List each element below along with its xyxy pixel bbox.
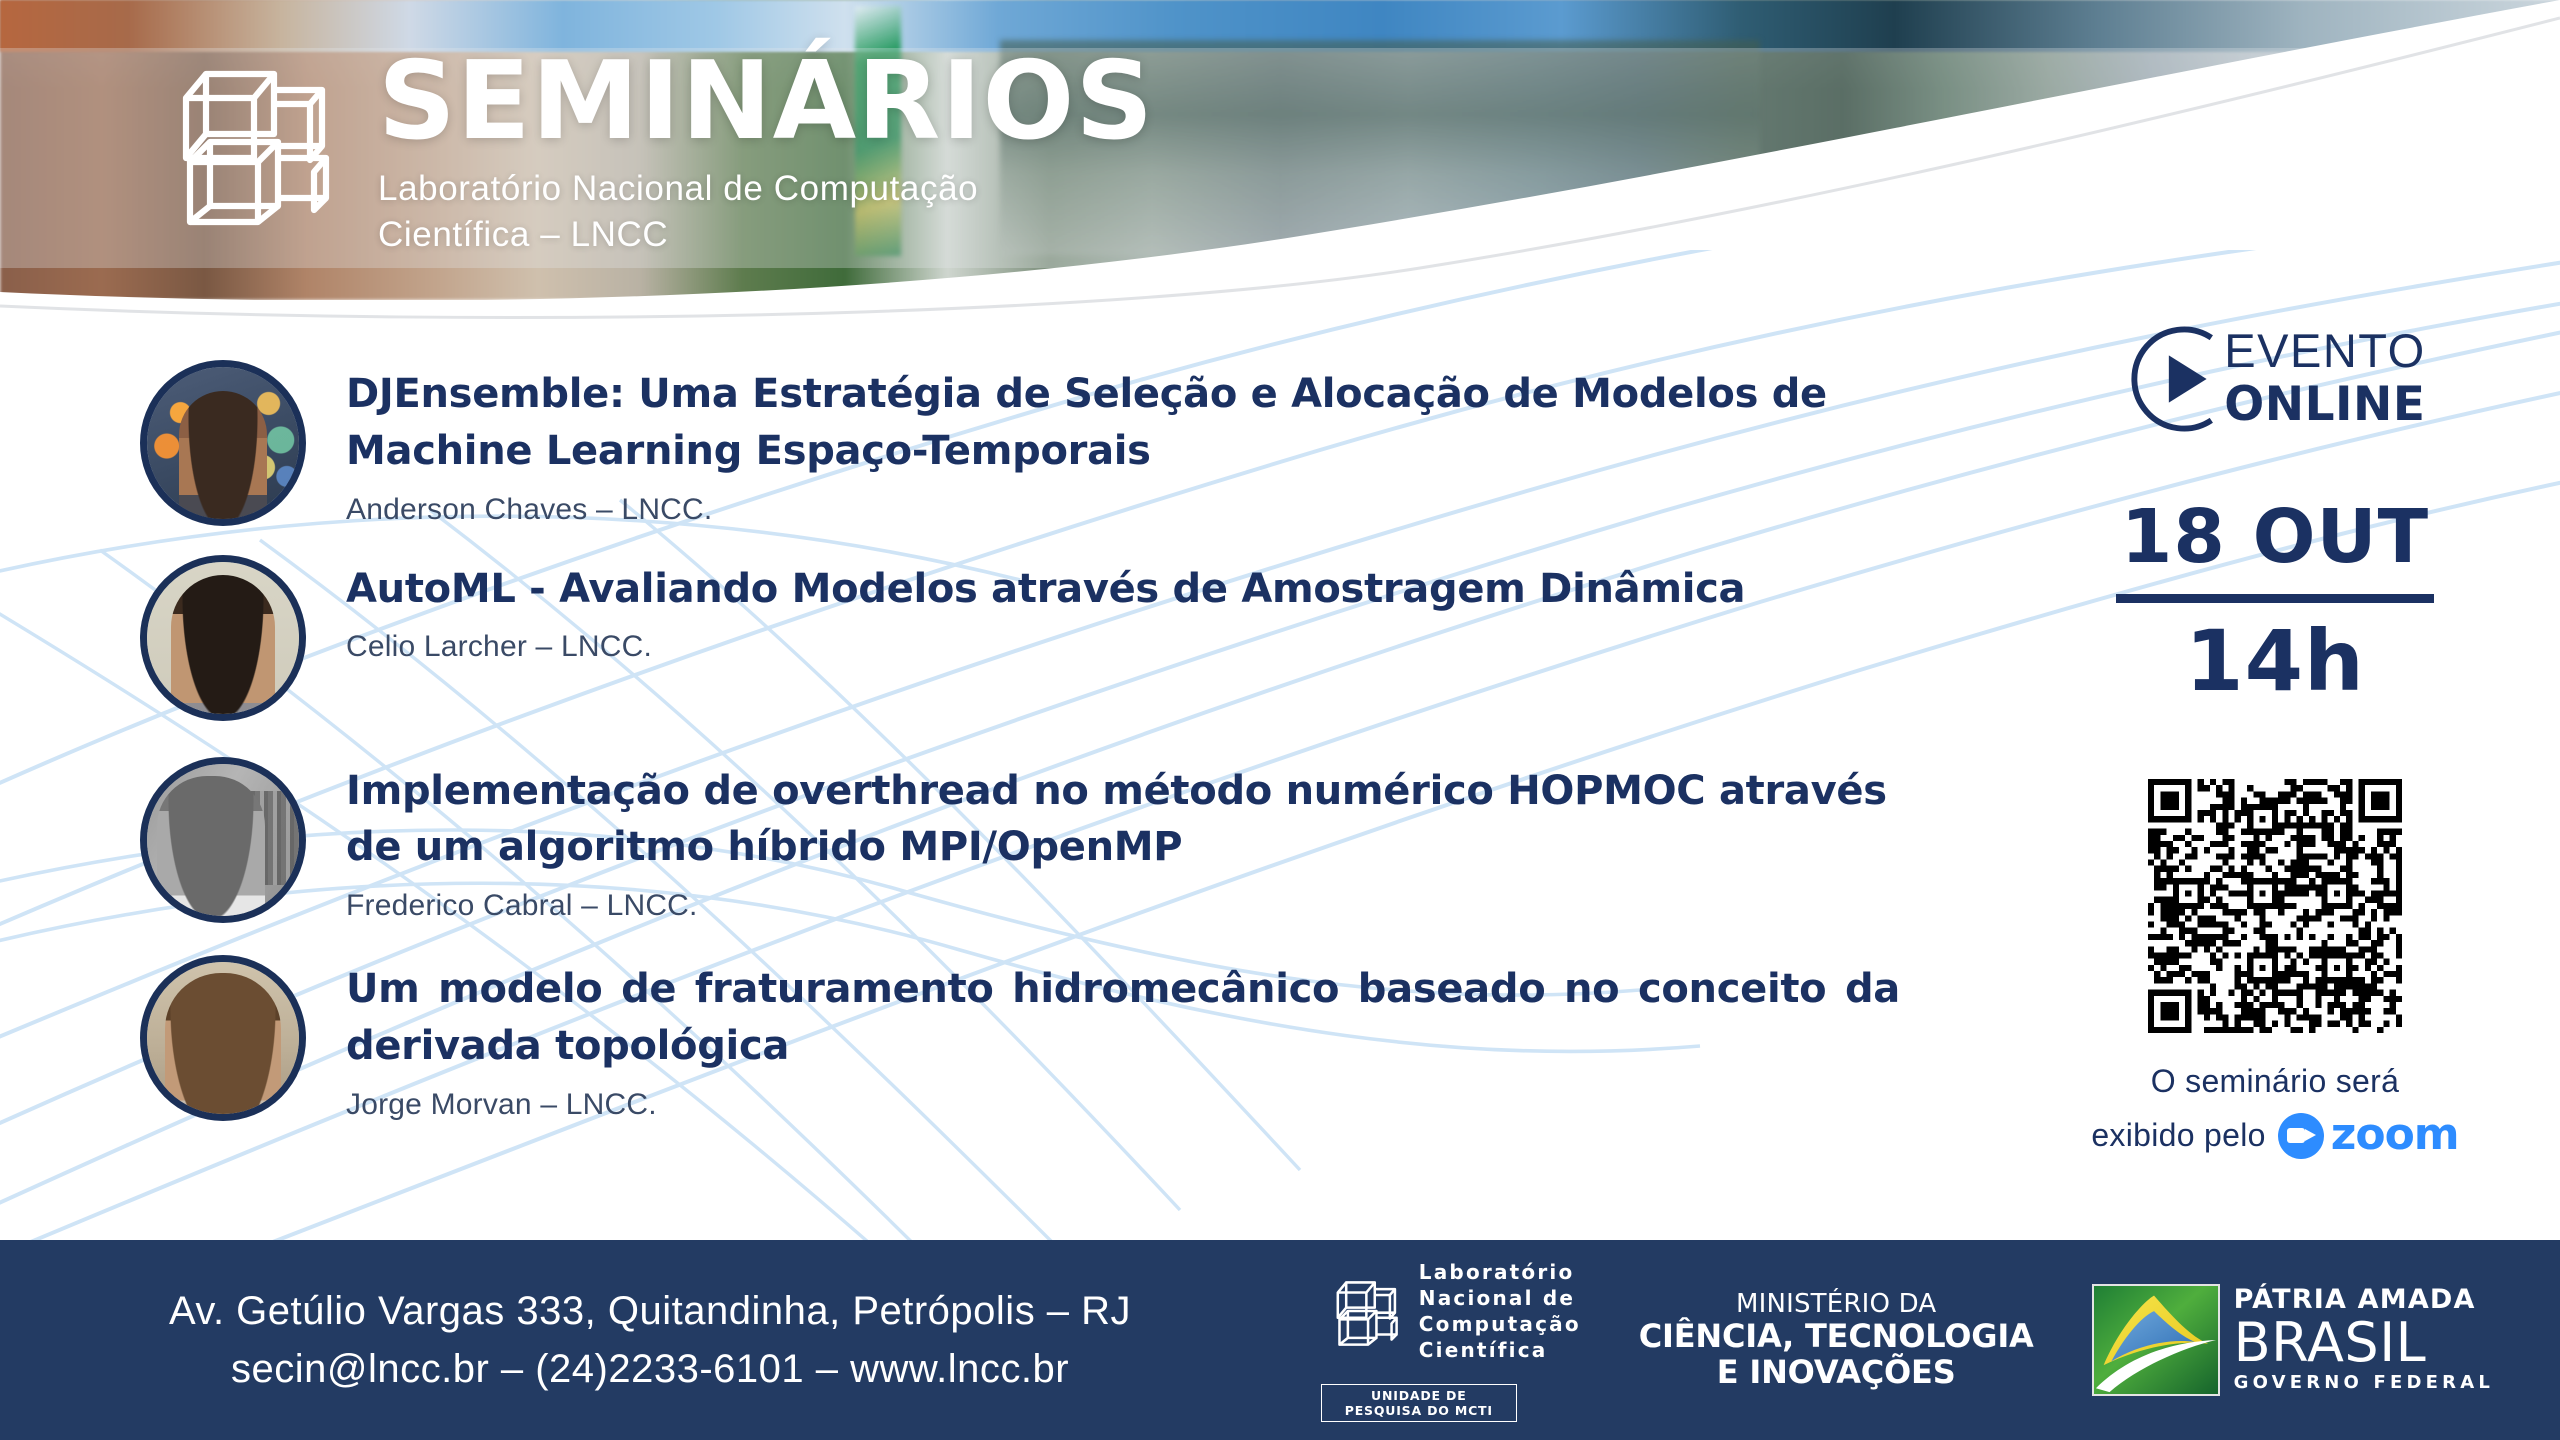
brazil-flag-shapes	[2094, 1286, 2218, 1394]
seminar-speaker: Jorge Morvan – LNCC.	[346, 1085, 1900, 1124]
footer-lncc-line1: Laboratório	[1419, 1259, 1581, 1285]
brand-subtitle-line2: Científica – LNCC	[378, 212, 1154, 258]
footer-government-logo: PÁTRIA AMADA BRASIL GOVERNO FEDERAL	[2092, 1284, 2494, 1396]
footer-lncc-line2: Nacional de	[1419, 1285, 1581, 1311]
platform-note-line1: O seminário será	[2060, 1059, 2490, 1104]
speaker-photo-celio-larcher	[147, 562, 299, 714]
footer-lncc-row: Laboratório Nacional de Computação Cient…	[1321, 1259, 1581, 1363]
zoom-logo: zoom	[2278, 1104, 2459, 1166]
event-time: 14h	[2060, 619, 2490, 703]
avatar-wrapper	[140, 555, 306, 721]
qr-code-canvas[interactable]	[2148, 779, 2402, 1033]
speaker-photo-jorge-morvan	[147, 962, 299, 1114]
seminar-title: AutoML - Avaliando Modelos através de Am…	[346, 561, 1900, 618]
footer-lncc-line3: Computação	[1419, 1311, 1581, 1337]
lncc-cubes-logo-icon	[150, 38, 350, 238]
footer-ministry-line1: MINISTÉRIO DA	[1639, 1290, 2034, 1319]
footer-government-line3: GOVERNO FEDERAL	[2234, 1372, 2494, 1394]
footer-address: Av. Getúlio Vargas 333, Quitandinha, Pet…	[0, 1282, 1250, 1398]
seminar-speaker: Frederico Cabral – LNCC.	[346, 886, 1900, 925]
brand-block: SEMINÁRIOS Laboratório Nacional de Compu…	[150, 38, 1154, 258]
brazil-flag-logo-icon	[2092, 1284, 2220, 1396]
footer-government-line2: BRASIL	[2234, 1315, 2494, 1370]
event-info-panel: EVENTO ONLINE 18 OUT 14h O seminário ser…	[2060, 320, 2490, 1167]
seminar-title: Um modelo de fraturamento hidromecânico …	[346, 961, 1900, 1075]
list-item: Um modelo de fraturamento hidromecânico …	[140, 955, 1900, 1124]
speaker-photo-anderson-chaves	[147, 367, 299, 519]
event-date-block: 18 OUT 14h	[2060, 500, 2490, 703]
lncc-cubes-logo-icon	[1321, 1269, 1405, 1353]
footer-ministry-line3: E INOVAÇÕES	[1639, 1355, 2034, 1390]
page-title: SEMINÁRIOS	[378, 48, 1154, 156]
qr-code-wrapper[interactable]	[2060, 771, 2490, 1041]
online-label: ONLINE	[2224, 380, 2425, 431]
seminar-title: Implementação de overthread no método nu…	[346, 763, 1900, 877]
avatar-wrapper	[140, 757, 306, 923]
brand-subtitle: Laboratório Nacional de Computação Cient…	[378, 166, 1154, 258]
seminar-poster: SEMINÁRIOS Laboratório Nacional de Compu…	[0, 0, 2560, 1440]
speaker-photo-frederico-cabral	[147, 764, 299, 916]
entry-body: Implementação de overthread no método nu…	[346, 757, 1900, 926]
seminar-speaker: Celio Larcher – LNCC.	[346, 627, 1900, 666]
list-item: DJEnsemble: Uma Estratégia de Seleção e …	[140, 360, 1900, 529]
footer-bar: Av. Getúlio Vargas 333, Quitandinha, Pet…	[0, 1240, 2560, 1440]
avatar	[140, 555, 306, 721]
platform-note-line2-row: exibido pelo zoom	[2060, 1104, 2490, 1166]
entry-body: Um modelo de fraturamento hidromecânico …	[346, 955, 1900, 1124]
footer-lncc-badge: UNIDADE DE PESQUISA DO MCTI	[1321, 1384, 1517, 1422]
date-divider	[2116, 594, 2434, 603]
footer-ministry-logo: MINISTÉRIO DA CIÊNCIA, TECNOLOGIA E INOV…	[1639, 1290, 2034, 1389]
evento-label: EVENTO	[2224, 327, 2425, 374]
entry-body: DJEnsemble: Uma Estratégia de Seleção e …	[346, 360, 1900, 529]
platform-note-line2: exibido pelo	[2091, 1113, 2265, 1158]
brand-subtitle-line1: Laboratório Nacional de Computação	[378, 166, 1154, 212]
zoom-wordmark: zoom	[2331, 1104, 2459, 1166]
avatar-wrapper	[140, 955, 306, 1121]
seminar-speaker: Anderson Chaves – LNCC.	[346, 490, 1900, 529]
footer-address-line1: Av. Getúlio Vargas 333, Quitandinha, Pet…	[50, 1282, 1250, 1340]
list-item: Implementação de overthread no método nu…	[140, 757, 1900, 926]
zoom-video-icon	[2278, 1113, 2324, 1159]
list-item: AutoML - Avaliando Modelos através de Am…	[140, 555, 1900, 721]
seminar-title: DJEnsemble: Uma Estratégia de Seleção e …	[346, 366, 1900, 480]
footer-ministry-line2: CIÊNCIA, TECNOLOGIA	[1639, 1319, 2034, 1354]
footer-lncc-logo: Laboratório Nacional de Computação Cient…	[1321, 1259, 1581, 1422]
avatar	[140, 955, 306, 1121]
event-date: 18 OUT	[2060, 500, 2490, 574]
avatar-wrapper	[140, 360, 306, 526]
footer-lncc-line4: Científica	[1419, 1337, 1581, 1363]
evento-words: EVENTO ONLINE	[2224, 327, 2425, 431]
footer-government-words: PÁTRIA AMADA BRASIL GOVERNO FEDERAL	[2234, 1286, 2494, 1393]
footer-logos: Laboratório Nacional de Computação Cient…	[1250, 1259, 2560, 1422]
footer-lncc-words: Laboratório Nacional de Computação Cient…	[1419, 1259, 1581, 1363]
seminar-list: DJEnsemble: Uma Estratégia de Seleção e …	[140, 360, 1900, 1146]
platform-note: O seminário será exibido pelo zoom	[2060, 1059, 2490, 1167]
avatar	[140, 757, 306, 923]
evento-online-block: EVENTO ONLINE	[2060, 320, 2490, 438]
avatar	[140, 360, 306, 526]
footer-address-line2: secin@lncc.br – (24)2233-6101 – www.lncc…	[50, 1340, 1250, 1398]
entry-body: AutoML - Avaliando Modelos através de Am…	[346, 555, 1900, 667]
qr-code[interactable]	[2140, 771, 2410, 1041]
